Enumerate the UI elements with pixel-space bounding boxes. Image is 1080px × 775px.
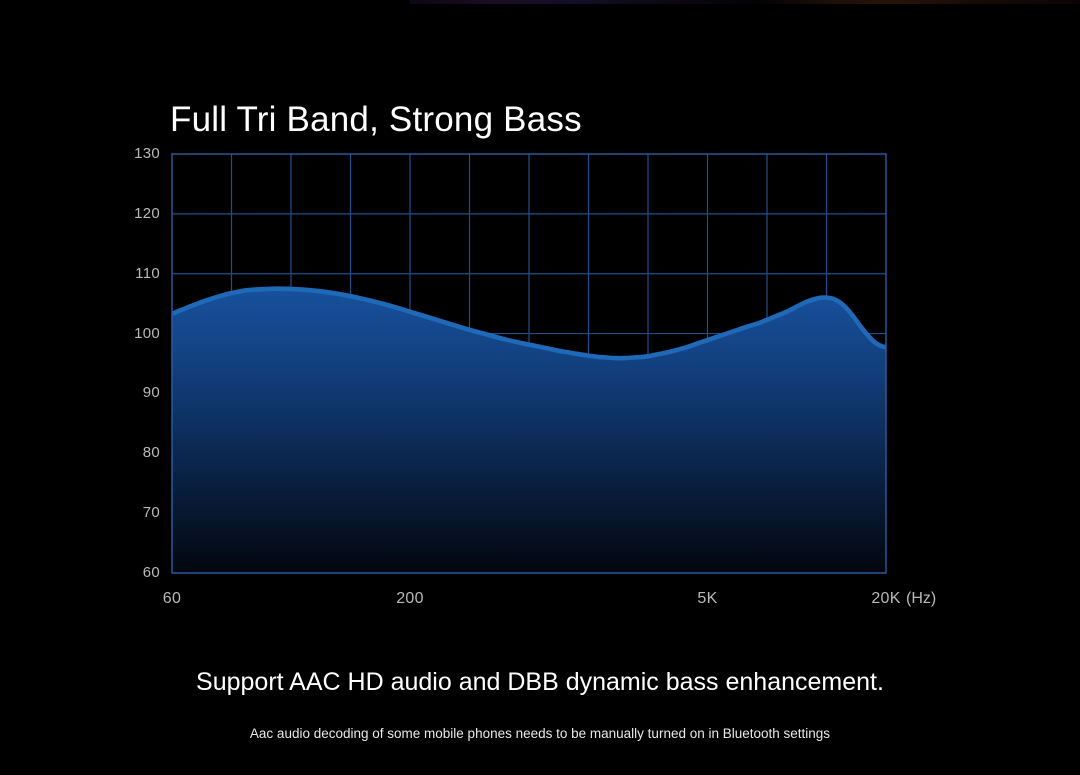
x-axis-tick-200: 200 <box>396 590 424 608</box>
x-axis-tick-20K: 20K <box>871 590 900 608</box>
y-axis-tick-120: 120 <box>114 205 160 222</box>
caption-secondary: Aac audio decoding of some mobile phones… <box>0 726 1080 741</box>
frequency-response-chart: 13012011010090807060 602005K20K(Hz) <box>0 0 1080 770</box>
y-axis-tick-70: 70 <box>114 504 160 521</box>
chart-svg <box>0 0 1080 770</box>
chart-page: Full Tri Band, Strong Bass <box>0 0 1080 770</box>
y-axis-tick-110: 110 <box>114 265 160 282</box>
y-axis-tick-80: 80 <box>114 444 160 461</box>
y-axis-tick-100: 100 <box>114 325 160 342</box>
x-axis-unit-label: (Hz) <box>906 590 936 608</box>
y-axis-tick-130: 130 <box>114 145 160 162</box>
y-axis-tick-60: 60 <box>114 564 160 581</box>
x-axis-tick-60: 60 <box>163 590 181 608</box>
caption-primary: Support AAC HD audio and DBB dynamic bas… <box>0 668 1080 697</box>
x-axis-tick-5K: 5K <box>697 590 717 608</box>
y-axis-tick-90: 90 <box>114 384 160 401</box>
